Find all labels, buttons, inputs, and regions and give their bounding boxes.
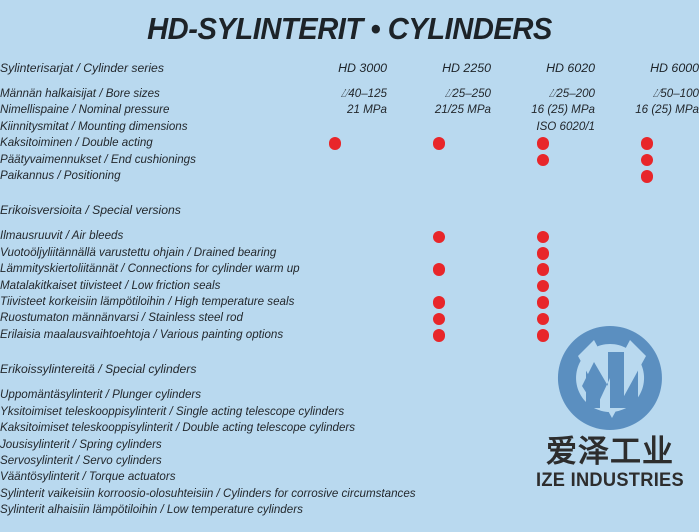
cell-empty-hd6000 [595, 404, 699, 420]
feature-dot-hd6020 [491, 278, 595, 294]
section-gap [0, 343, 699, 361]
section-heading-row: Sylinterisarjat / Cylinder seriesHD 3000… [0, 60, 699, 77]
heading-underspace [0, 77, 699, 86]
red-dot-icon [537, 137, 550, 150]
red-dot-icon [537, 154, 550, 167]
red-dot-icon [433, 329, 446, 342]
feature-dot-hd6000 [595, 135, 699, 151]
feature-dot-hd6020 [491, 152, 595, 168]
cell-empty-hd2250 [387, 152, 491, 168]
section-heading-spacer [595, 361, 699, 378]
cell-value-hd3000: ⌰40–125 [283, 86, 387, 102]
table-row: Yksitoimiset teleskooppisylinterit / Sin… [0, 404, 699, 420]
cell-empty-hd6000 [595, 294, 699, 310]
red-dot-icon [537, 231, 550, 244]
cell-value-hd6020: 16 (25) MPa [491, 102, 595, 118]
red-dot-icon [537, 247, 550, 260]
row-label: Sylinterit vaikeisiin korroosio-olosuhte… [0, 486, 283, 502]
feature-dot-hd6020 [491, 261, 595, 277]
column-header-hd2250: HD 2250 [387, 60, 491, 77]
row-label: Ilmausruuvit / Air bleeds [0, 228, 283, 244]
table-row: Servosylinterit / Servo cylinders [0, 453, 699, 469]
feature-dot-hd6020 [491, 228, 595, 244]
table-row: Nimellispaine / Nominal pressure21 MPa21… [0, 102, 699, 118]
table-row: Jousisylinterit / Spring cylinders [0, 437, 699, 453]
cell-empty-hd6000 [595, 469, 699, 485]
section-heading-spacer [595, 202, 699, 219]
feature-dot-hd6000 [595, 152, 699, 168]
cell-empty-hd3000 [283, 278, 387, 294]
cell-empty-hd6000 [595, 486, 699, 502]
red-dot-icon [537, 280, 550, 293]
cell-empty-hd6020 [491, 420, 595, 436]
cell-empty-hd6020 [491, 469, 595, 485]
red-dot-icon [329, 137, 342, 150]
table-row: Kaksitoimiset teleskooppisylinterit / Do… [0, 420, 699, 436]
table-row: Männän halkaisijat / Bore sizes⌰40–125⌰2… [0, 86, 699, 102]
cell-empty-hd3000 [283, 168, 387, 184]
section-heading-spacer [283, 361, 387, 378]
cell-empty-hd2250 [387, 420, 491, 436]
feature-dot-hd6020 [491, 294, 595, 310]
red-dot-icon [433, 137, 446, 150]
red-dot-icon [641, 137, 654, 150]
red-dot-icon [537, 296, 550, 309]
cell-empty-hd6000 [595, 278, 699, 294]
row-label: Kaksitoiminen / Double acting [0, 135, 283, 151]
heading-underspace [0, 378, 699, 387]
cell-empty-hd3000 [283, 294, 387, 310]
cell-empty-hd3000 [283, 387, 387, 403]
cell-empty-hd2250 [387, 502, 491, 518]
table-row: Paikannus / Positioning [0, 168, 699, 184]
cell-empty-hd6020 [491, 168, 595, 184]
cell-empty-hd3000 [283, 152, 387, 168]
cell-empty-hd3000 [283, 119, 387, 135]
section-heading-cylinder-series: Sylinterisarjat / Cylinder series [0, 60, 283, 77]
cell-empty-hd6020 [491, 437, 595, 453]
red-dot-icon [537, 329, 550, 342]
cell-empty-hd6020 [491, 404, 595, 420]
cell-empty-hd3000 [283, 327, 387, 343]
cell-empty-hd6000 [595, 261, 699, 277]
cell-empty-hd2250 [387, 387, 491, 403]
row-label: Paikannus / Positioning [0, 168, 283, 184]
section-heading-spacer [491, 202, 595, 219]
row-label: Vuotoöljyliitännällä varustettu ohjain /… [0, 245, 283, 261]
cell-empty-hd6000 [595, 245, 699, 261]
row-label: Uppomäntäsylinterit / Plunger cylinders [0, 387, 283, 403]
row-label: Kaksitoimiset teleskooppisylinterit / Do… [0, 420, 283, 436]
section-heading-row: Erikoissylintereitä / Special cylinders [0, 361, 699, 378]
page-title: HD-SYLINTERIT • CYLINDERS [21, 0, 678, 46]
row-label: Tiivisteet korkeisiin lämpötiloihin / Hi… [0, 294, 283, 310]
feature-dot-hd6000 [595, 168, 699, 184]
row-label: Lämmityskiertoliitännät / Connections fo… [0, 261, 283, 277]
cell-empty-hd3000 [283, 469, 387, 485]
cell-empty-hd6000 [595, 228, 699, 244]
section-heading-spacer [387, 202, 491, 219]
feature-dot-hd3000 [283, 135, 387, 151]
row-label: Päätyvaimennukset / End cushionings [0, 152, 283, 168]
row-label: Sylinterit alhaisiin lämpötiloihin / Low… [0, 502, 283, 518]
cell-empty-hd6000 [595, 387, 699, 403]
table-row: Matalakitkaiset tiivisteet / Low frictio… [0, 278, 699, 294]
cell-empty-hd3000 [283, 245, 387, 261]
cell-value-hd6000: ⌰50–100 [595, 86, 699, 102]
cell-value-hd2250: ⌰25–250 [387, 86, 491, 102]
table-row: Kaksitoiminen / Double acting [0, 135, 699, 151]
section-heading-spacer [387, 361, 491, 378]
cell-empty-hd6000 [595, 310, 699, 326]
feature-dot-hd6020 [491, 245, 595, 261]
cell-empty-hd6000 [595, 420, 699, 436]
feature-dot-hd2250 [387, 228, 491, 244]
row-label: Erilaisia maalausvaihtoehtoja / Various … [0, 327, 283, 343]
cell-empty-hd3000 [283, 437, 387, 453]
specification-sheet: Sylinterisarjat / Cylinder seriesHD 3000… [0, 60, 699, 519]
cell-empty-hd3000 [283, 228, 387, 244]
table-row: Vääntösylinterit / Torque actuators [0, 469, 699, 485]
section-heading-spacer [283, 202, 387, 219]
feature-dot-hd2250 [387, 261, 491, 277]
section-heading-spacer [491, 361, 595, 378]
column-header-hd3000: HD 3000 [283, 60, 387, 77]
red-dot-icon [641, 170, 654, 183]
cell-empty-hd6020 [491, 387, 595, 403]
red-dot-icon [433, 313, 446, 326]
cell-empty-hd3000 [283, 310, 387, 326]
cell-empty-hd2250 [387, 404, 491, 420]
cell-empty-hd3000 [283, 453, 387, 469]
cell-value-hd3000: 21 MPa [283, 102, 387, 118]
table-row: Sylinterit alhaisiin lämpötiloihin / Low… [0, 502, 699, 518]
cell-empty-hd6020 [491, 502, 595, 518]
row-label: Matalakitkaiset tiivisteet / Low frictio… [0, 278, 283, 294]
cell-value-hd6020: ISO 6020/1 [491, 119, 595, 135]
specification-table: Sylinterisarjat / Cylinder seriesHD 3000… [0, 60, 699, 519]
feature-dot-hd2250 [387, 327, 491, 343]
feature-dot-hd2250 [387, 135, 491, 151]
red-dot-icon [537, 263, 550, 276]
red-dot-icon [433, 263, 446, 276]
cell-value-hd6020: ⌰25–200 [491, 86, 595, 102]
feature-dot-hd6020 [491, 327, 595, 343]
heading-underspace [0, 219, 699, 228]
row-label: Vääntösylinterit / Torque actuators [0, 469, 283, 485]
cell-empty-hd2250 [387, 437, 491, 453]
red-dot-icon [537, 313, 550, 326]
table-row: Ruostumaton männänvarsi / Stainless stee… [0, 310, 699, 326]
table-row: Erilaisia maalausvaihtoehtoja / Various … [0, 327, 699, 343]
section-heading-special-cylinders: Erikoissylintereitä / Special cylinders [0, 361, 283, 378]
column-header-hd6000: HD 6000 [595, 60, 699, 77]
red-dot-icon [641, 154, 654, 167]
cell-empty-hd2250 [387, 469, 491, 485]
cell-empty-hd6000 [595, 327, 699, 343]
row-label: Yksitoimiset teleskooppisylinterit / Sin… [0, 404, 283, 420]
column-header-hd6020: HD 6020 [491, 60, 595, 77]
feature-dot-hd2250 [387, 310, 491, 326]
cell-empty-hd6000 [595, 119, 699, 135]
table-row: Vuotoöljyliitännällä varustettu ohjain /… [0, 245, 699, 261]
red-dot-icon [433, 231, 446, 244]
table-row: Lämmityskiertoliitännät / Connections fo… [0, 261, 699, 277]
cell-empty-hd2250 [387, 278, 491, 294]
cell-empty-hd2250 [387, 119, 491, 135]
table-row: Kiinnitysmitat / Mounting dimensionsISO … [0, 119, 699, 135]
feature-dot-hd6020 [491, 310, 595, 326]
row-label: Männän halkaisijat / Bore sizes [0, 86, 283, 102]
section-heading-row: Erikoisversioita / Special versions [0, 202, 699, 219]
table-row: Tiivisteet korkeisiin lämpötiloihin / Hi… [0, 294, 699, 310]
table-row: Päätyvaimennukset / End cushionings [0, 152, 699, 168]
section-gap [0, 184, 699, 202]
cell-empty-hd6000 [595, 502, 699, 518]
row-label: Nimellispaine / Nominal pressure [0, 102, 283, 118]
cell-empty-hd6020 [491, 486, 595, 502]
table-row: Uppomäntäsylinterit / Plunger cylinders [0, 387, 699, 403]
cell-empty-hd2250 [387, 245, 491, 261]
row-label: Servosylinterit / Servo cylinders [0, 453, 283, 469]
table-row: Ilmausruuvit / Air bleeds [0, 228, 699, 244]
cell-value-hd6000: 16 (25) MPa [595, 102, 699, 118]
cell-empty-hd6000 [595, 437, 699, 453]
feature-dot-hd6020 [491, 135, 595, 151]
section-heading-special-versions: Erikoisversioita / Special versions [0, 202, 283, 219]
row-label: Kiinnitysmitat / Mounting dimensions [0, 119, 283, 135]
cell-empty-hd2250 [387, 168, 491, 184]
cell-empty-hd2250 [387, 453, 491, 469]
row-label: Ruostumaton männänvarsi / Stainless stee… [0, 310, 283, 326]
cell-empty-hd6000 [595, 453, 699, 469]
cell-value-hd2250: 21/25 MPa [387, 102, 491, 118]
feature-dot-hd2250 [387, 294, 491, 310]
table-row: Sylinterit vaikeisiin korroosio-olosuhte… [0, 486, 699, 502]
cell-empty-hd6020 [491, 453, 595, 469]
row-label: Jousisylinterit / Spring cylinders [0, 437, 283, 453]
red-dot-icon [433, 296, 446, 309]
